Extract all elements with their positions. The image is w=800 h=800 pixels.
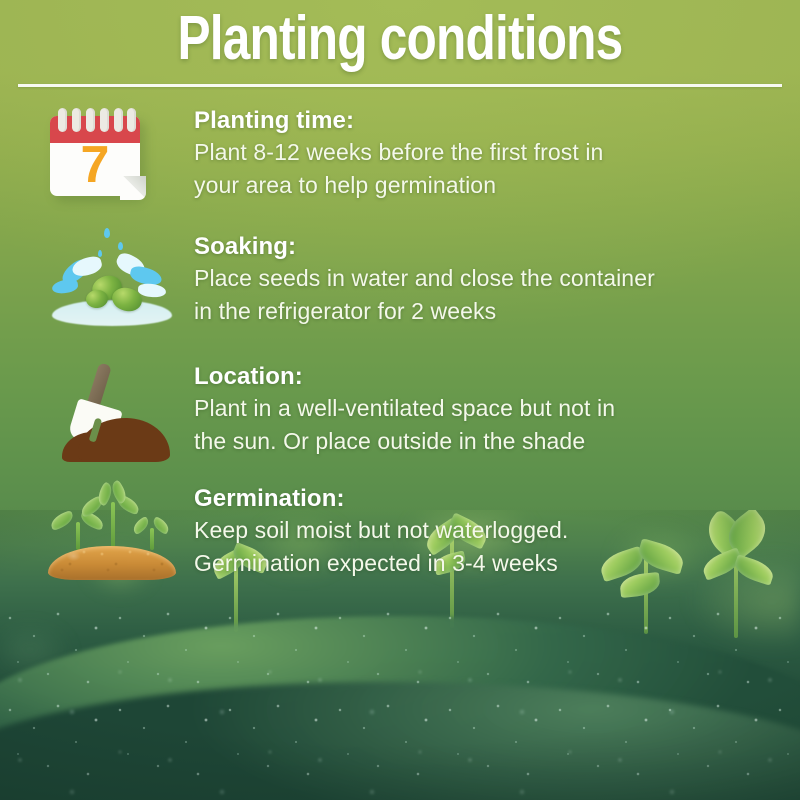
section-germination: Germination: Keep soil moist but not wat… — [24, 482, 784, 586]
seedlings-sprouting-icon — [44, 484, 180, 584]
sprout-small-right — [136, 522, 168, 550]
section-body: Keep soil moist but not waterlogged. Ger… — [194, 514, 568, 580]
section-body: Plant in a well-ventilated space but not… — [194, 392, 615, 458]
title-divider — [18, 84, 782, 87]
section-body: Place seeds in water and close the conta… — [194, 262, 655, 328]
section-icon-slot — [24, 482, 194, 586]
section-heading: Germination: — [194, 484, 568, 514]
sprout-tall-center — [90, 494, 136, 550]
water-splash-seeds-icon — [42, 228, 182, 336]
section-text: Location: Plant in a well-ventilated spa… — [194, 360, 615, 464]
shovel-in-soil-icon — [50, 360, 170, 464]
section-location: Location: Plant in a well-ventilated spa… — [24, 360, 784, 464]
soil-texture — [48, 546, 176, 580]
section-soaking: Soaking: Place seeds in water and close … — [24, 230, 784, 334]
section-text: Planting time: Plant 8-12 weeks before t… — [194, 104, 603, 208]
section-icon-slot — [24, 360, 194, 464]
section-text: Soaking: Place seeds in water and close … — [194, 230, 655, 334]
section-body: Plant 8-12 weeks before the first frost … — [194, 136, 603, 202]
section-icon-slot: 7 — [24, 104, 194, 208]
section-heading: Soaking: — [194, 232, 655, 262]
section-icon-slot — [24, 230, 194, 334]
section-text: Germination: Keep soil moist but not wat… — [194, 482, 568, 586]
calendar-icon: 7 — [50, 108, 146, 200]
section-heading: Planting time: — [194, 106, 603, 136]
page-title: Planting conditions — [80, 4, 720, 74]
planting-conditions-poster: Planting conditions 7 — [0, 0, 800, 800]
section-heading: Location: — [194, 362, 615, 392]
section-planting-time: 7 Planting time: Plant 8-12 weeks before… — [24, 104, 784, 208]
